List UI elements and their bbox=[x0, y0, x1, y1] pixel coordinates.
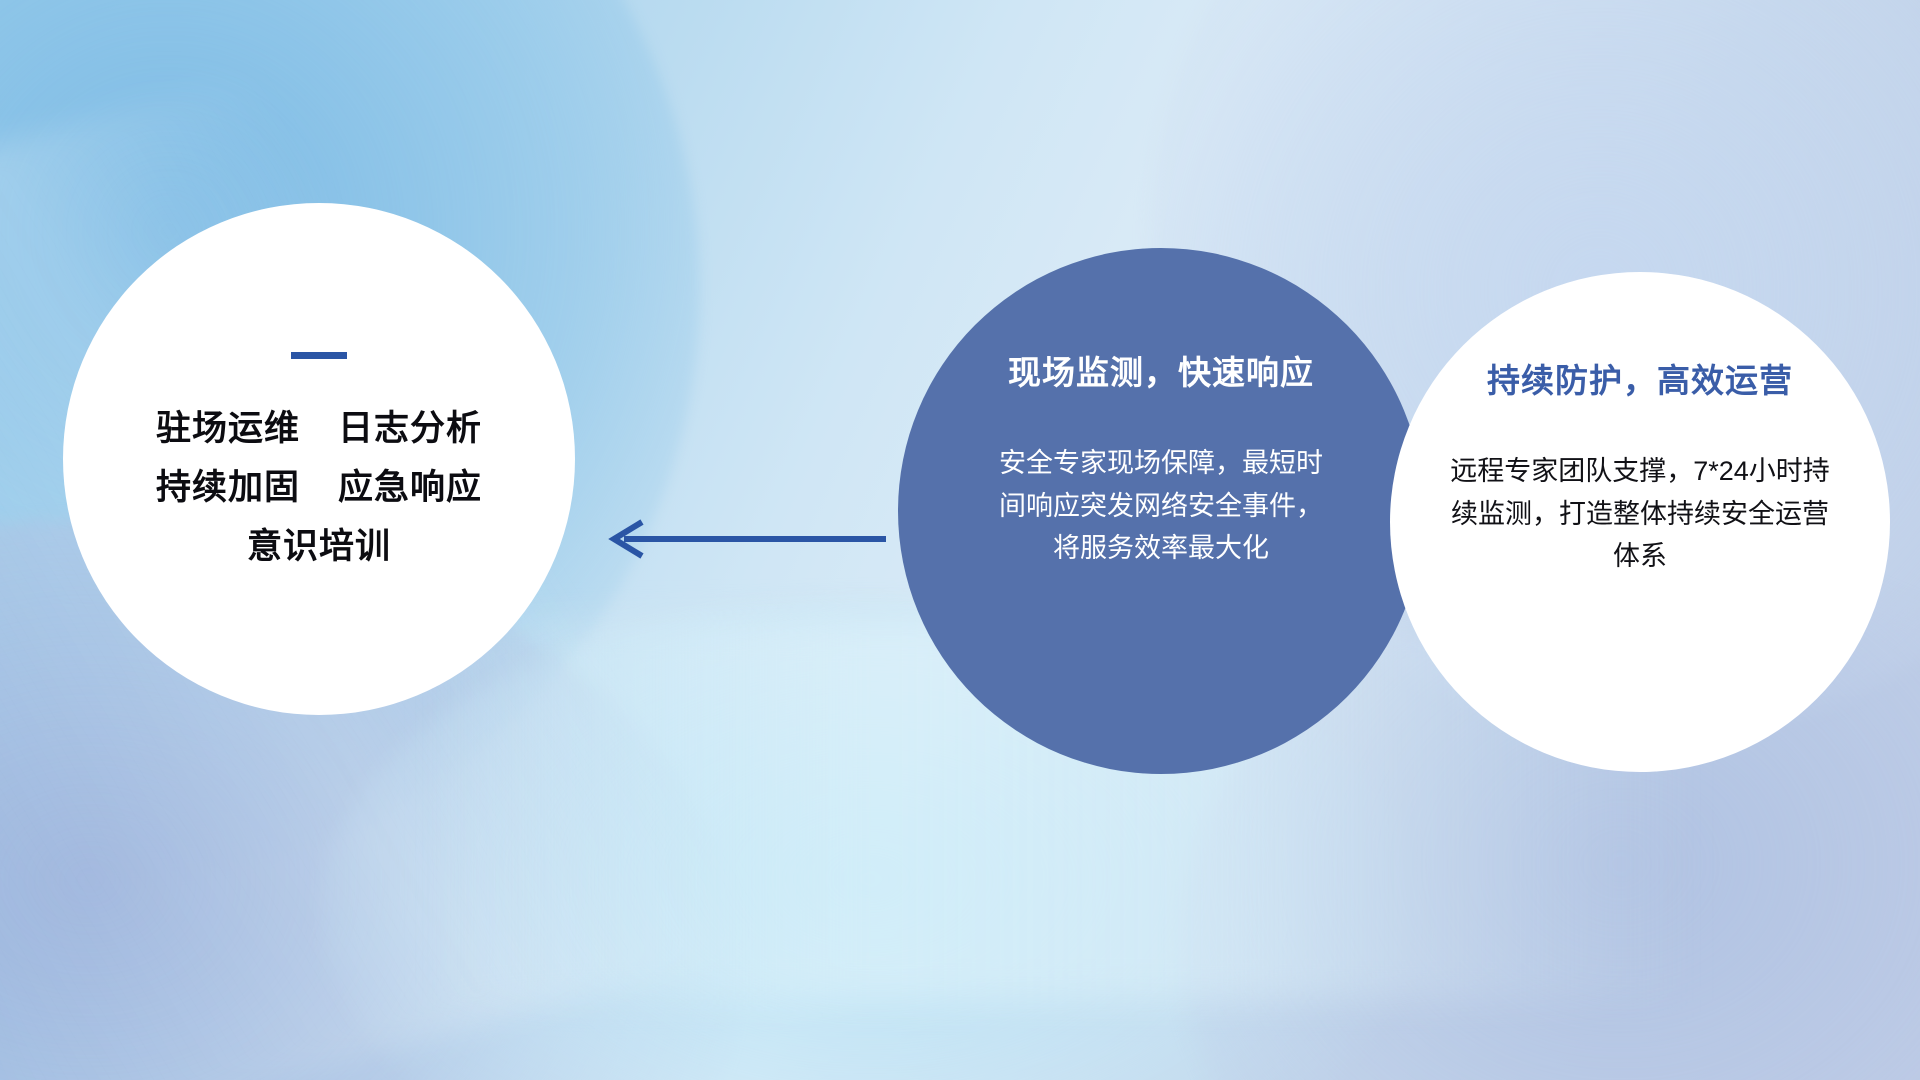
keyword-item: 意识培训 bbox=[247, 529, 391, 566]
horizontal-dash-accent-icon bbox=[291, 352, 347, 359]
right-circle-body: 远程专家团队支撑，7*24小时持续监测，打造整体持续安全运营体系 bbox=[1440, 450, 1840, 578]
keyword-row: 持续加固 应急响应 bbox=[156, 470, 482, 507]
left-keyword-circle: 驻场运维 日志分析 持续加固 应急响应 意识培训 bbox=[63, 203, 575, 715]
keyword-row: 意识培训 bbox=[247, 529, 391, 566]
keyword-list: 驻场运维 日志分析 持续加固 应急响应 意识培训 bbox=[156, 411, 482, 565]
arrow-left-icon bbox=[598, 518, 888, 560]
center-circle-title: 现场监测，快速响应 bbox=[1008, 346, 1314, 394]
center-service-circle: 现场监测，快速响应 安全专家现场保障，最短时间响应突发网络安全事件，将服务效率最… bbox=[898, 248, 1424, 774]
keyword-item: 持续加固 bbox=[156, 470, 300, 507]
right-service-circle: 持续防护，高效运营 远程专家团队支撑，7*24小时持续监测，打造整体持续安全运营… bbox=[1390, 272, 1890, 772]
right-circle-title: 持续防护，高效运营 bbox=[1487, 354, 1793, 402]
keyword-item: 驻场运维 bbox=[156, 411, 300, 448]
keyword-row: 驻场运维 日志分析 bbox=[156, 411, 482, 448]
keyword-item: 应急响应 bbox=[338, 470, 482, 507]
keyword-item: 日志分析 bbox=[338, 411, 482, 448]
center-circle-body: 安全专家现场保障，最短时间响应突发网络安全事件，将服务效率最大化 bbox=[996, 442, 1326, 570]
